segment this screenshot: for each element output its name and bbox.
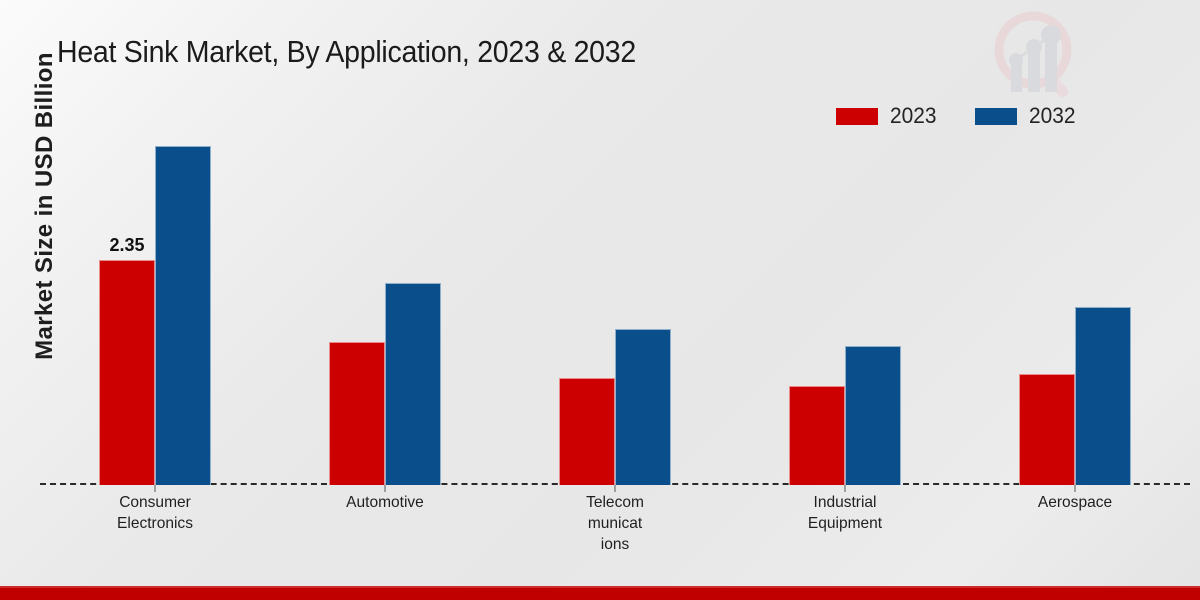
- footer-bar: [0, 586, 1200, 600]
- bar-group: [328, 140, 442, 485]
- bar-group: [788, 140, 902, 485]
- x-axis-tick: [385, 485, 386, 492]
- bar-2032[interactable]: [1075, 307, 1131, 485]
- legend-label-2032: 2032: [1029, 105, 1076, 127]
- label-line: Telecom: [557, 492, 673, 513]
- legend-label-2023: 2023: [890, 105, 937, 127]
- chart-canvas: Heat Sink Market, By Application, 2023 &…: [0, 0, 1200, 600]
- x-axis-label-4: IndustrialEquipment: [787, 492, 903, 534]
- magnifier-bar-chart-icon: [985, 8, 1085, 106]
- bar-2023[interactable]: [559, 378, 615, 485]
- footer-highlight: [0, 586, 1200, 588]
- bar-group: 2.35: [98, 140, 212, 485]
- legend-swatch-2032: [975, 108, 1017, 125]
- x-axis-label-3: Telecommunications: [557, 492, 673, 555]
- bar-2023[interactable]: [1019, 374, 1075, 485]
- label-line: Automotive: [327, 492, 443, 513]
- bar-value-label: 2.35: [109, 235, 144, 256]
- bar-group: [558, 140, 672, 485]
- legend-item-2023[interactable]: 2023: [836, 105, 939, 127]
- legend-swatch-2023: [836, 108, 878, 125]
- bar-2032[interactable]: [615, 329, 671, 485]
- bar-2032[interactable]: [155, 146, 211, 485]
- x-axis-label-1: ConsumerElectronics: [97, 492, 213, 534]
- x-axis-label-2: Automotive: [327, 492, 443, 513]
- x-axis-tick: [845, 485, 846, 492]
- label-line: municat: [557, 513, 673, 534]
- legend-item-2032[interactable]: 2032: [975, 105, 1078, 127]
- bar-2032[interactable]: [845, 346, 901, 485]
- label-line: Consumer: [97, 492, 213, 513]
- x-axis-tick: [615, 485, 616, 492]
- label-line: Industrial: [787, 492, 903, 513]
- chart-legend: 2023 2032: [836, 105, 1078, 127]
- label-line: Electronics: [97, 513, 213, 534]
- plot-area: 2.35 ConsumerElectronicsAutomotiveTeleco…: [40, 140, 1190, 485]
- label-line: Equipment: [787, 513, 903, 534]
- x-axis-tick: [1075, 485, 1076, 492]
- chart-title: Heat Sink Market, By Application, 2023 &…: [57, 34, 636, 70]
- x-axis-tick: [155, 485, 156, 492]
- bar-2032[interactable]: [385, 283, 441, 485]
- bar-2023[interactable]: [789, 386, 845, 485]
- x-axis-label-5: Aerospace: [1017, 492, 1133, 513]
- watermark-logo: [985, 8, 1085, 106]
- bar-group: [1018, 140, 1132, 485]
- label-line: Aerospace: [1017, 492, 1133, 513]
- bar-2023[interactable]: 2.35: [99, 260, 155, 485]
- label-line: ions: [557, 534, 673, 555]
- bar-2023[interactable]: [329, 342, 385, 485]
